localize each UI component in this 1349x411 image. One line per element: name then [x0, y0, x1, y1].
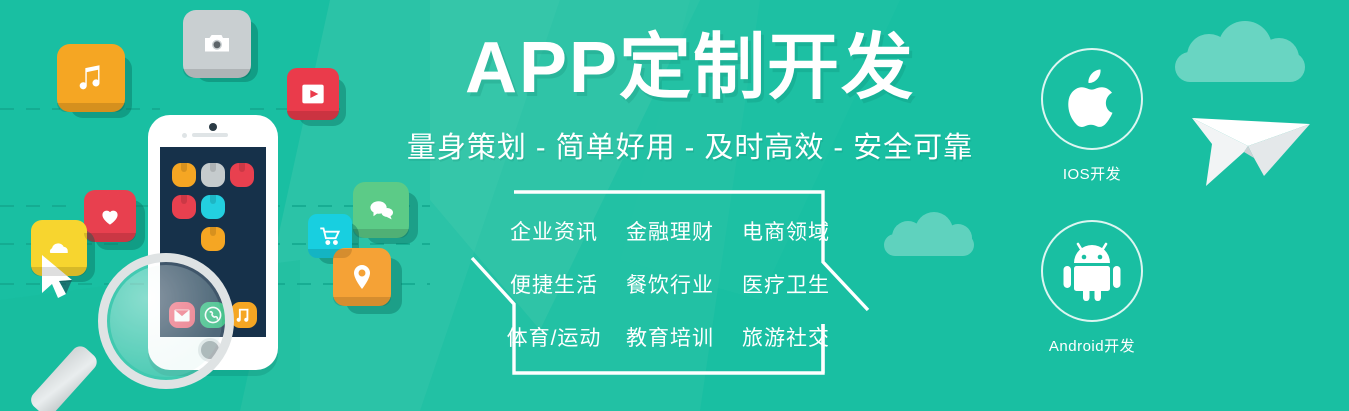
phone-illustration	[0, 0, 430, 411]
shopping-cart-icon	[308, 214, 352, 258]
category-box: 企业资讯 金融理财 电商领域 便捷生活 餐饮行业 医疗卫生 体育/运动 教育培训…	[470, 190, 870, 375]
banner-title: APP定制开发	[370, 32, 1010, 104]
category-grid: 企业资讯 金融理财 电商领域 便捷生活 餐饮行业 医疗卫生 体育/运动 教育培训…	[470, 190, 870, 375]
android-icon	[1041, 220, 1143, 322]
magnifier-ring	[98, 253, 234, 389]
category-item[interactable]: 电商领域	[742, 216, 830, 246]
category-item[interactable]: 医疗卫生	[742, 269, 830, 299]
platform-list: IOS开发	[1022, 48, 1162, 378]
category-item[interactable]: 企业资讯	[510, 216, 598, 246]
dashed-connector	[0, 108, 60, 110]
apple-icon	[1041, 48, 1143, 150]
cloud-glyph	[44, 233, 74, 263]
platform-ios[interactable]: IOS开发	[1022, 48, 1162, 184]
pin-glyph	[346, 261, 378, 293]
paper-plane-icon	[1186, 88, 1316, 193]
app-development-banner: APP定制开发 量身策划 - 简单好用 - 及时高效 - 安全可靠 企业资讯 金…	[0, 0, 1349, 411]
center-content: APP定制开发 量身策划 - 简单好用 - 及时高效 - 安全可靠 企业资讯 金…	[370, 0, 1010, 411]
phone-speaker	[192, 133, 228, 137]
heart-glyph	[97, 203, 123, 229]
category-item[interactable]: 旅游社交	[742, 322, 830, 352]
app-icon	[230, 163, 254, 187]
chat-glyph	[366, 195, 396, 225]
camera-glyph	[199, 26, 235, 62]
category-item[interactable]: 便捷生活	[510, 269, 598, 299]
cart-glyph	[317, 223, 343, 249]
platform-label: Android开发	[1022, 335, 1162, 356]
banner-subtitle: 量身策划 - 简单好用 - 及时高效 - 安全可靠	[370, 124, 1010, 166]
music-note-glyph	[74, 61, 108, 95]
phone-sensor	[209, 123, 217, 131]
camera-icon	[183, 10, 251, 78]
category-item[interactable]: 餐饮行业	[626, 269, 714, 299]
phone-camera	[182, 133, 187, 138]
play-glyph	[297, 78, 329, 110]
dashed-connector	[0, 205, 70, 207]
heart-icon	[84, 190, 136, 242]
category-item[interactable]: 教育培训	[626, 322, 714, 352]
apple-glyph	[1063, 68, 1121, 130]
music-note-icon	[57, 44, 125, 112]
app-icon	[172, 163, 196, 187]
android-glyph	[1061, 241, 1123, 301]
category-item[interactable]: 体育/运动	[507, 322, 602, 352]
category-item[interactable]: 金融理财	[626, 216, 714, 246]
magnifier-handle	[27, 343, 100, 411]
app-icon	[172, 195, 196, 219]
video-play-icon	[287, 68, 339, 120]
app-icon	[201, 195, 225, 219]
app-icon	[201, 163, 225, 187]
magnifier-icon	[72, 247, 242, 411]
platform-android[interactable]: Android开发	[1022, 220, 1162, 356]
platform-label: IOS开发	[1022, 163, 1162, 184]
